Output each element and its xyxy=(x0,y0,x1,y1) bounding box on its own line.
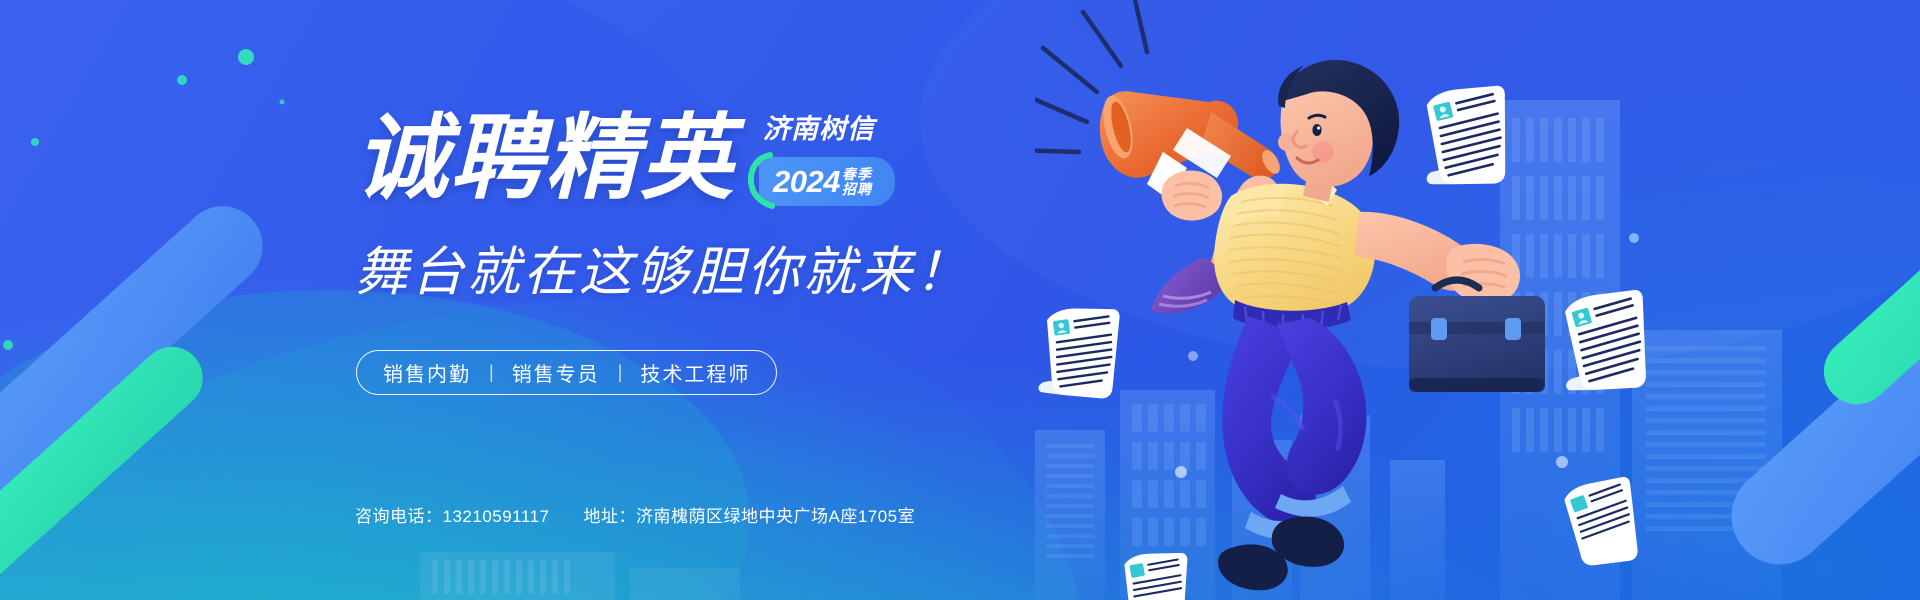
job-tag-2[interactable]: 技术工程师 xyxy=(640,358,750,387)
badge-hook-icon xyxy=(746,152,776,210)
banner-content: 诚聘精英 济南树信 2024 春季 招聘 舞台就在这够胆你就来！ 销售内勤 | xyxy=(355,0,1095,600)
torso-shirt xyxy=(1214,183,1375,331)
job-tag-0[interactable]: 销售内勤 xyxy=(383,358,471,387)
briefcase-icon xyxy=(1409,280,1545,392)
badge-year: 2024 xyxy=(773,166,840,197)
contact-phone-value: 13210591117 xyxy=(443,507,550,526)
contact-address: 地址：济南槐荫区绿地中央广场A座1705室 xyxy=(583,502,915,527)
badge-sub-line-1: 春季 xyxy=(842,167,872,182)
badge-sub-line-2: 招聘 xyxy=(842,182,872,197)
tag-separator-1: | xyxy=(618,362,623,383)
head xyxy=(1278,60,1399,202)
season-badge: 2024 春季 招聘 xyxy=(759,157,895,206)
recruitment-banner: 诚聘精英 济南树信 2024 春季 招聘 舞台就在这够胆你就来！ 销售内勤 | xyxy=(0,0,1920,600)
badge-subtext: 春季 招聘 xyxy=(842,167,872,196)
legs-pants xyxy=(1222,316,1366,539)
contact-phone-label: 咨询电话： xyxy=(355,507,443,526)
businessman-illustration xyxy=(1035,0,1595,600)
company-name: 济南树信 xyxy=(751,116,901,143)
page-title: 诚聘精英 xyxy=(355,112,735,205)
contact-address-value: 济南槐荫区绿地中央广场A座1705室 xyxy=(636,507,915,526)
headline-row: 诚聘精英 济南树信 2024 春季 招聘 xyxy=(355,112,901,206)
job-tags-pill: 销售内勤 | 销售专员 | 技术工程师 xyxy=(356,350,777,395)
shoes xyxy=(1218,516,1344,590)
badge-block: 济南树信 2024 春季 招聘 xyxy=(751,116,901,206)
contact-info: 咨询电话：13210591117 地址：济南槐荫区绿地中央广场A座1705室 xyxy=(355,502,915,527)
subtitle: 舞台就在这够胆你就来！ xyxy=(355,246,971,299)
tag-separator-0: | xyxy=(489,362,494,383)
contact-phone: 咨询电话：13210591117 xyxy=(355,502,549,527)
contact-address-label: 地址： xyxy=(583,507,636,526)
job-tag-1[interactable]: 销售专员 xyxy=(512,358,600,387)
